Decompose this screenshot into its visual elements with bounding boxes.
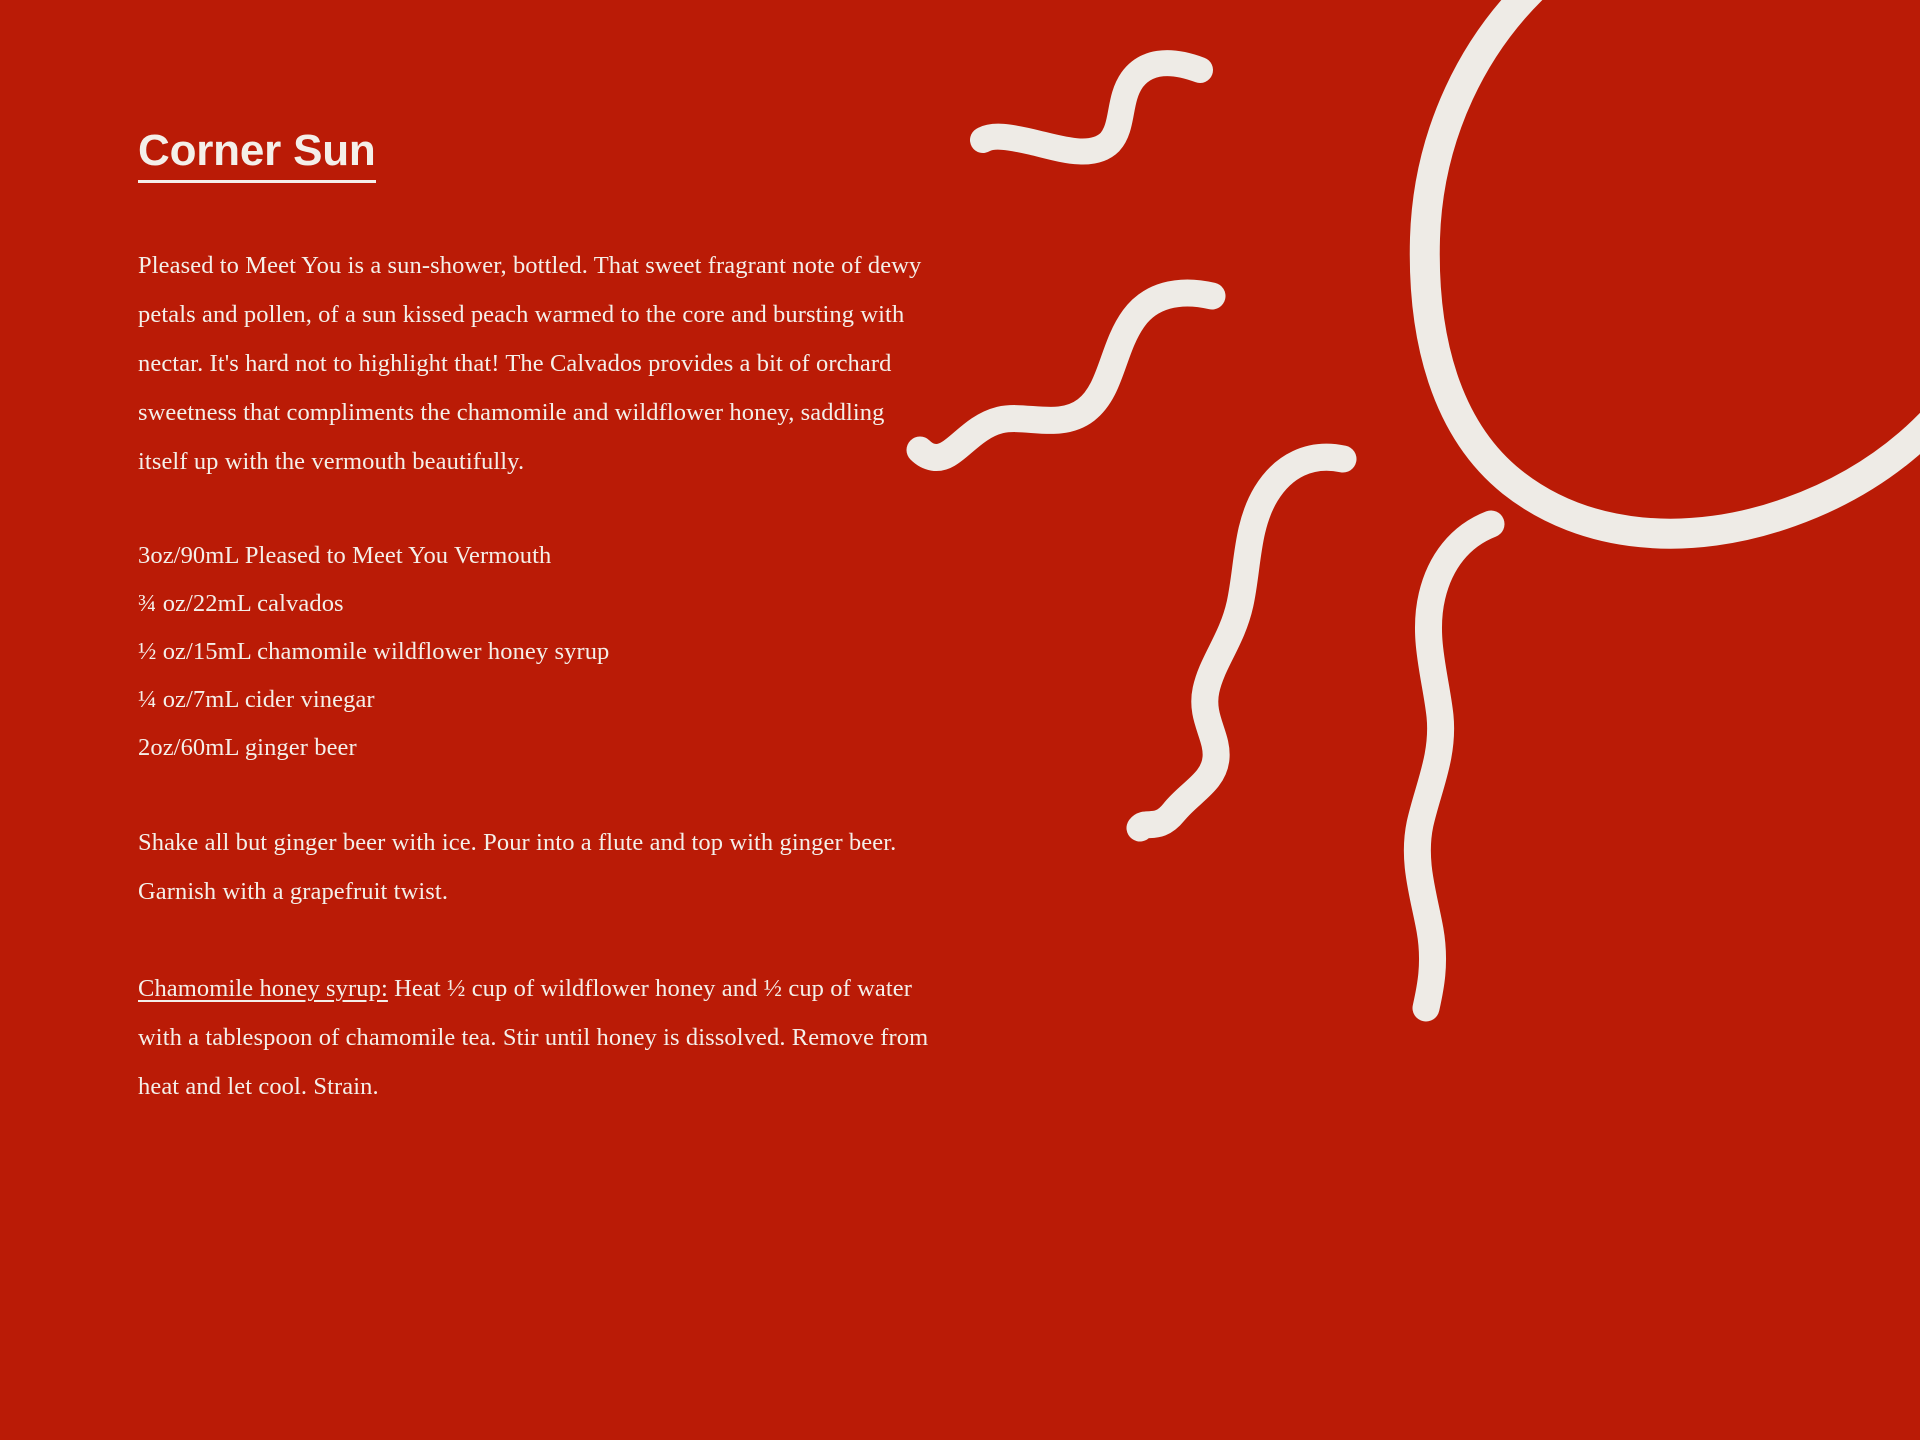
squiggle-ray-lower-left-icon — [1140, 457, 1343, 828]
squiggle-ray-upper-icon — [983, 63, 1200, 151]
page-title: Corner Sun — [138, 128, 376, 183]
intro-paragraph: Pleased to Meet You is a sun-shower, bot… — [138, 241, 938, 486]
syrup-label: Chamomile honey syrup: — [138, 975, 388, 1002]
list-item: ¾ oz/22mL calvados — [138, 580, 968, 628]
syrup-paragraph: Chamomile honey syrup: Heat ½ cup of wil… — [138, 964, 938, 1111]
recipe-card: Corner Sun Pleased to Meet You is a sun-… — [138, 128, 968, 1111]
list-item: 2oz/60mL ginger beer — [138, 724, 968, 772]
list-item: ½ oz/15mL chamomile wildflower honey syr… — [138, 628, 968, 676]
squiggle-ray-lower-right-icon — [1417, 524, 1491, 1008]
list-item: 3oz/90mL Pleased to Meet You Vermouth — [138, 532, 968, 580]
list-item: ¼ oz/7mL cider vinegar — [138, 676, 968, 724]
sun-arc-icon — [1425, 0, 1920, 534]
ingredients-list: 3oz/90mL Pleased to Meet You Vermouth ¾ … — [138, 532, 968, 772]
method-paragraph: Shake all but ginger beer with ice. Pour… — [138, 818, 928, 916]
recipe-page: Corner Sun Pleased to Meet You is a sun-… — [0, 0, 1920, 1440]
